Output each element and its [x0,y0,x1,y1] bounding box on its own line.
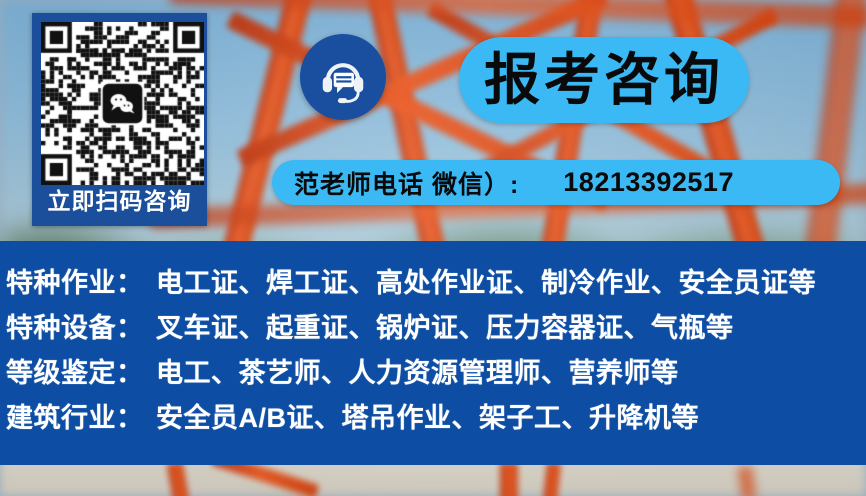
phone-label: 范老师电话 微信）: [294,165,519,201]
headset-badge[interactable] [300,34,386,120]
info-row: 建筑行业： 安全员A/B证、塔吊作业、架子工、升降机等 [6,396,866,441]
advert-banner: 立即扫码咨询 报考咨询 [0,0,866,496]
title-pill: 报考咨询 [459,37,749,123]
qr-caption: 立即扫码咨询 [35,181,204,221]
info-row-category: 特种设备： [6,306,156,345]
info-row: 等级鉴定： 电工、茶艺师、人力资源管理师、营养师等 [6,351,866,396]
info-row-category: 等级鉴定： [6,351,156,390]
title-text: 报考咨询 [484,52,724,108]
headset-chat-icon [316,50,370,104]
info-row-value: 电工、茶艺师、人力资源管理师、营养师等 [156,351,679,390]
info-row: 特种设备： 叉车证、起重证、锅炉证、压力容器证、气瓶等 [6,306,866,351]
qr-code-card[interactable]: 立即扫码咨询 [32,13,207,226]
info-row-category: 建筑行业： [6,396,156,435]
qr-code-canvas[interactable] [41,22,204,185]
info-row: 特种作业： 电工证、焊工证、高处作业证、制冷作业、安全员证等 [6,261,866,306]
info-row-category: 特种作业： [6,261,156,300]
info-row-value: 电工证、焊工证、高处作业证、制冷作业、安全员证等 [156,261,816,300]
phone-number[interactable]: 18213392517 [563,167,734,198]
qr-code-image[interactable] [41,22,204,185]
info-row-value: 叉车证、起重证、锅炉证、压力容器证、气瓶等 [156,306,734,345]
phone-pill[interactable]: 范老师电话 微信）: 18213392517 [272,160,840,205]
info-row-value: 安全员A/B证、塔吊作业、架子工、升降机等 [156,396,699,435]
info-panel: 特种作业： 电工证、焊工证、高处作业证、制冷作业、安全员证等 特种设备： 叉车证… [0,241,866,465]
